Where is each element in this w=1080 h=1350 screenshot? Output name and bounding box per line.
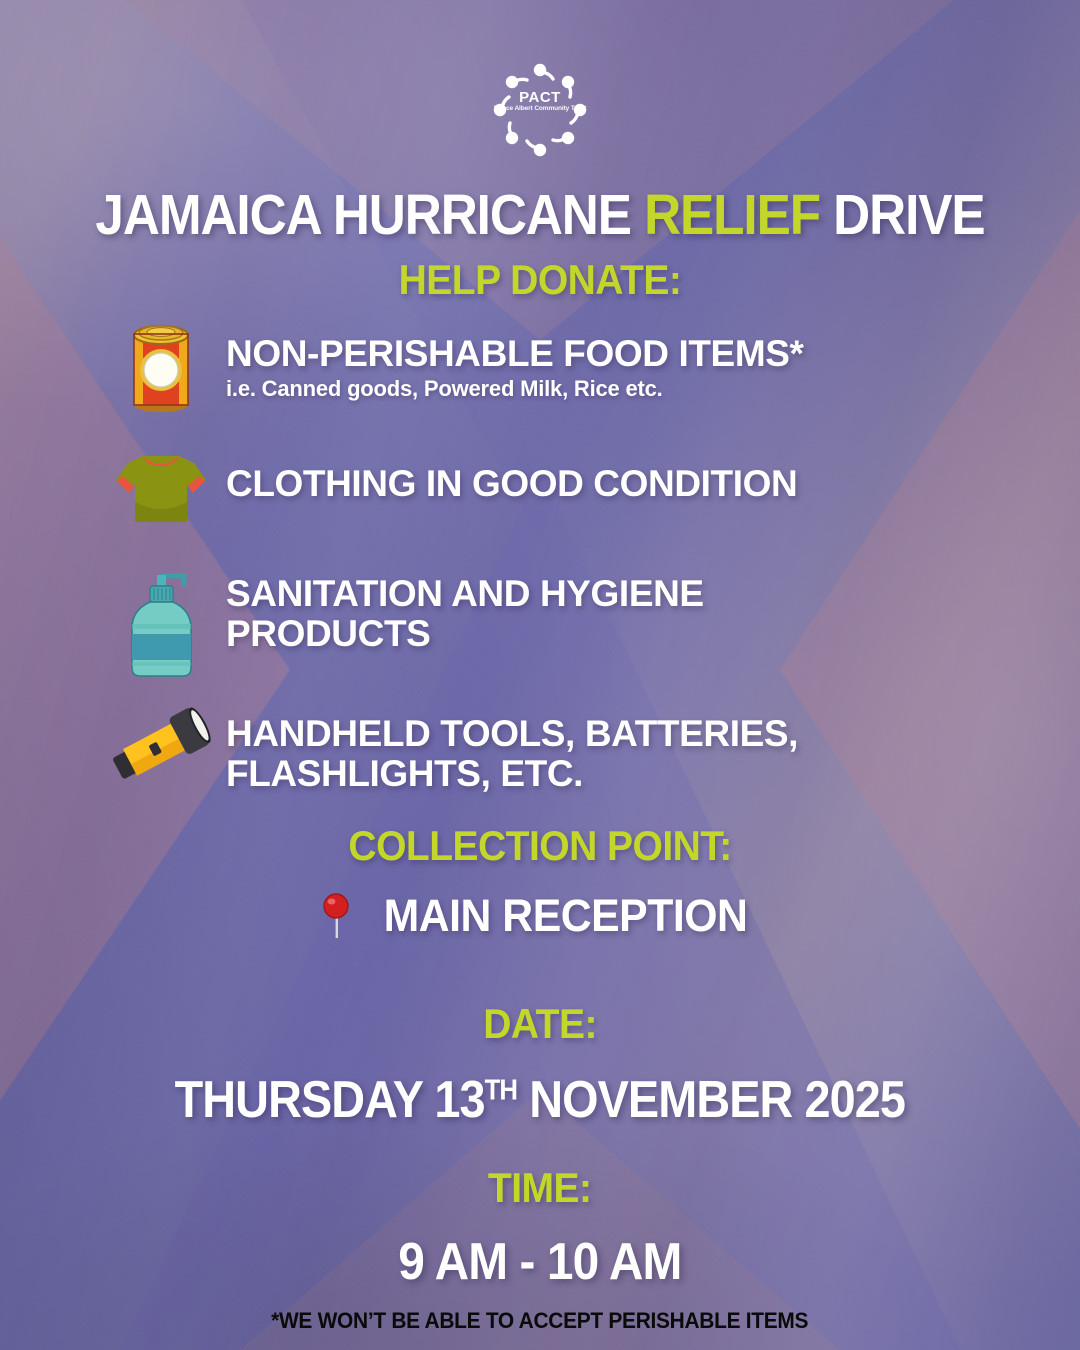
pact-logo-tagline: Prince Albert Community Trust [492, 106, 588, 113]
date-month-year: NOVEMBER 2025 [517, 1071, 905, 1129]
list-item-body: CLOTHING IN GOOD CONDITION [226, 450, 797, 504]
list-item: SANITATION AND HYGIENE PRODUCTS [0, 560, 1080, 700]
time-heading: TIME: [488, 1164, 592, 1212]
date-heading: DATE: [483, 1000, 597, 1048]
list-item-subtitle: i.e. Canned goods, Powered Milk, Rice et… [226, 376, 804, 402]
collection-point-value: MAIN RECEPTION [384, 890, 748, 942]
disclaimer-text: *WE WON’T BE ABLE TO ACCEPT PERISHABLE I… [271, 1308, 808, 1334]
collection-point-row: MAIN RECEPTION [322, 890, 757, 942]
date-ordinal-suffix: TH [485, 1074, 518, 1106]
date-weekday-day: THURSDAY 13 [175, 1071, 485, 1129]
canned-food-icon [96, 320, 226, 414]
list-item-title: SANITATION AND HYGIENE PRODUCTS [226, 574, 704, 654]
list-item-body: HANDHELD TOOLS, BATTERIES, FLASHLIGHTS, … [226, 700, 798, 794]
map-pin-icon [322, 893, 352, 939]
help-donate-heading: HELP DONATE: [399, 256, 682, 304]
list-item: NON-PERISHABLE FOOD ITEMS* i.e. Canned g… [0, 320, 1080, 450]
pact-logo: PACT Prince Albert Community Trust [492, 62, 588, 158]
list-item: HANDHELD TOOLS, BATTERIES, FLASHLIGHTS, … [0, 700, 1080, 820]
title-accent-word: RELIEF [644, 183, 820, 247]
soap-pump-bottle-icon [96, 560, 226, 682]
time-value: 9 AM - 10 AM [398, 1232, 681, 1292]
list-item-title: CLOTHING IN GOOD CONDITION [226, 464, 797, 504]
list-item-body: SANITATION AND HYGIENE PRODUCTS [226, 560, 704, 654]
title-part-1: JAMAICA HURRICANE [95, 183, 644, 247]
pact-logo-wordmark: PACT [492, 90, 588, 105]
page-title: JAMAICA HURRICANE RELIEF DRIVE [95, 182, 984, 248]
donation-items-list: NON-PERISHABLE FOOD ITEMS* i.e. Canned g… [0, 318, 1080, 820]
list-item-title: HANDHELD TOOLS, BATTERIES, FLASHLIGHTS, … [226, 714, 798, 794]
title-part-2: DRIVE [820, 183, 985, 247]
tshirt-icon [96, 450, 226, 528]
list-item: CLOTHING IN GOOD CONDITION [0, 450, 1080, 560]
list-item-title: NON-PERISHABLE FOOD ITEMS* [226, 334, 804, 374]
collection-point-heading: COLLECTION POINT: [348, 822, 731, 870]
poster-canvas: PACT Prince Albert Community Trust JAMAI… [0, 0, 1080, 1350]
date-value: THURSDAY 13TH NOVEMBER 2025 [175, 1070, 905, 1130]
list-item-body: NON-PERISHABLE FOOD ITEMS* i.e. Canned g… [226, 320, 804, 402]
flashlight-icon [96, 700, 226, 788]
